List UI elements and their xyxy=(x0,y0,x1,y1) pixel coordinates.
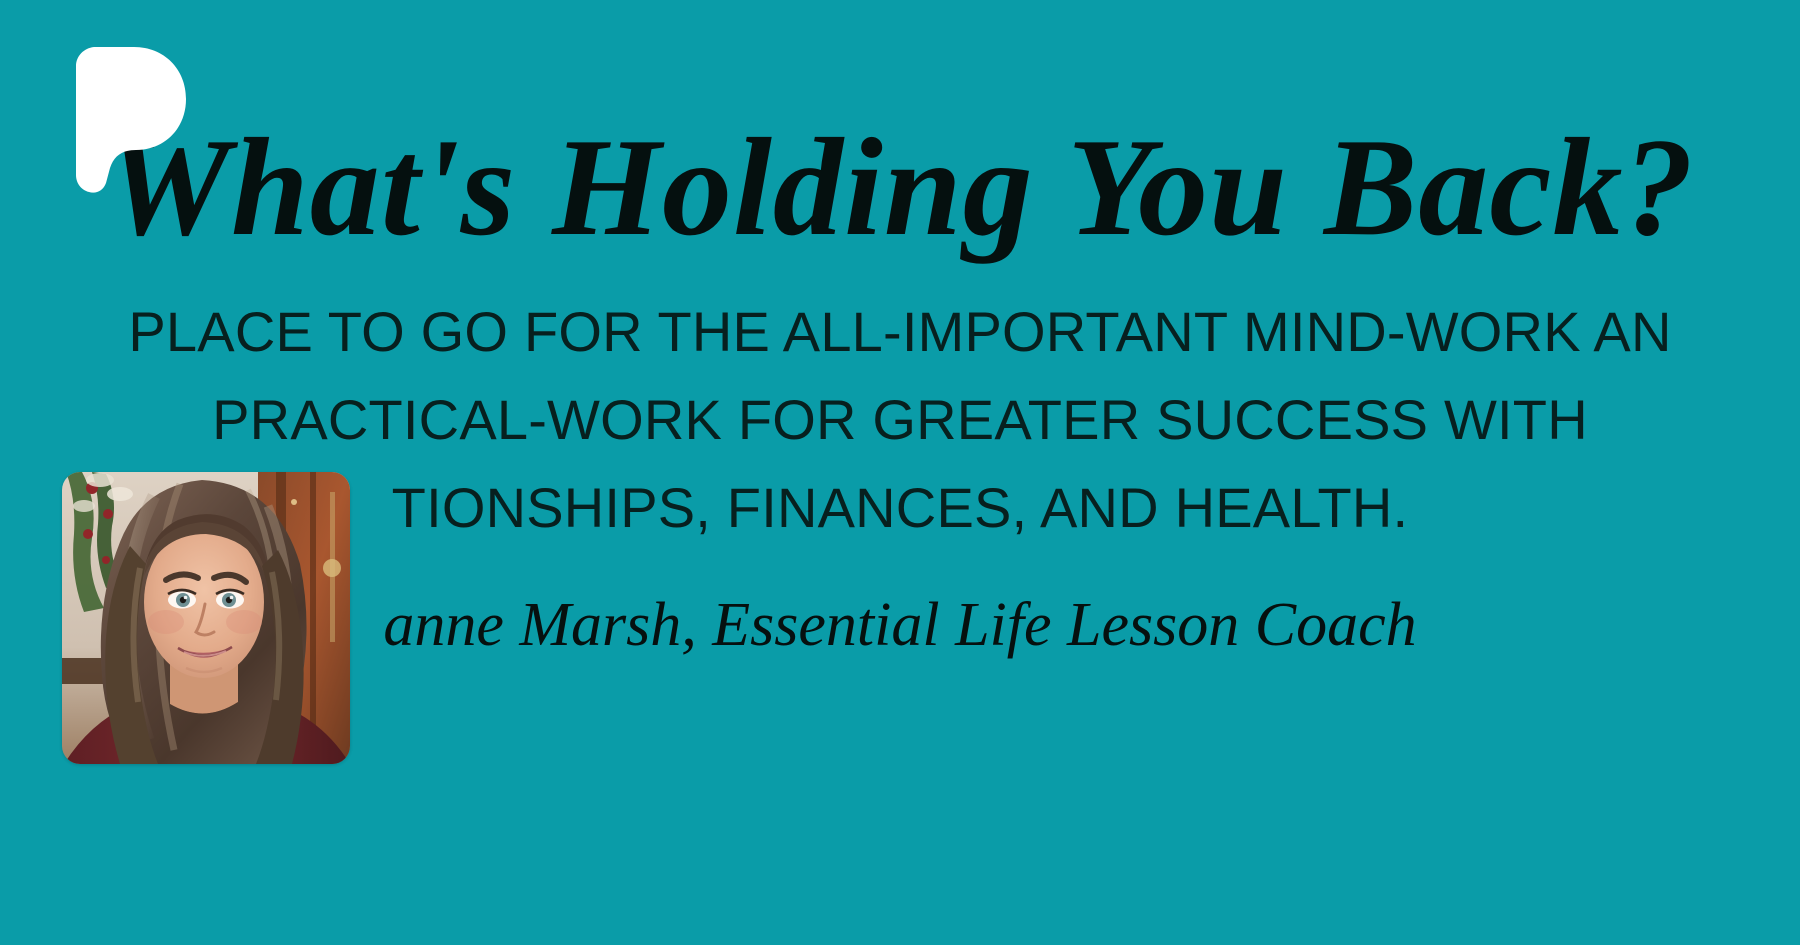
banner-subtitle-line-1: PLACE TO GO FOR THE ALL-IMPORTANT MIND-W… xyxy=(0,288,1800,376)
banner-headline: What's Holding You Back? xyxy=(0,118,1800,258)
patreon-logo[interactable] xyxy=(60,44,190,194)
banner-artwork: What's Holding You Back? PLACE TO GO FOR… xyxy=(0,0,1800,945)
patreon-banner-page: What's Holding You Back? PLACE TO GO FOR… xyxy=(0,0,1800,945)
avatar xyxy=(62,472,350,764)
banner-subtitle-line-2: PRACTICAL-WORK FOR GREATER SUCCESS WITH xyxy=(0,376,1800,464)
